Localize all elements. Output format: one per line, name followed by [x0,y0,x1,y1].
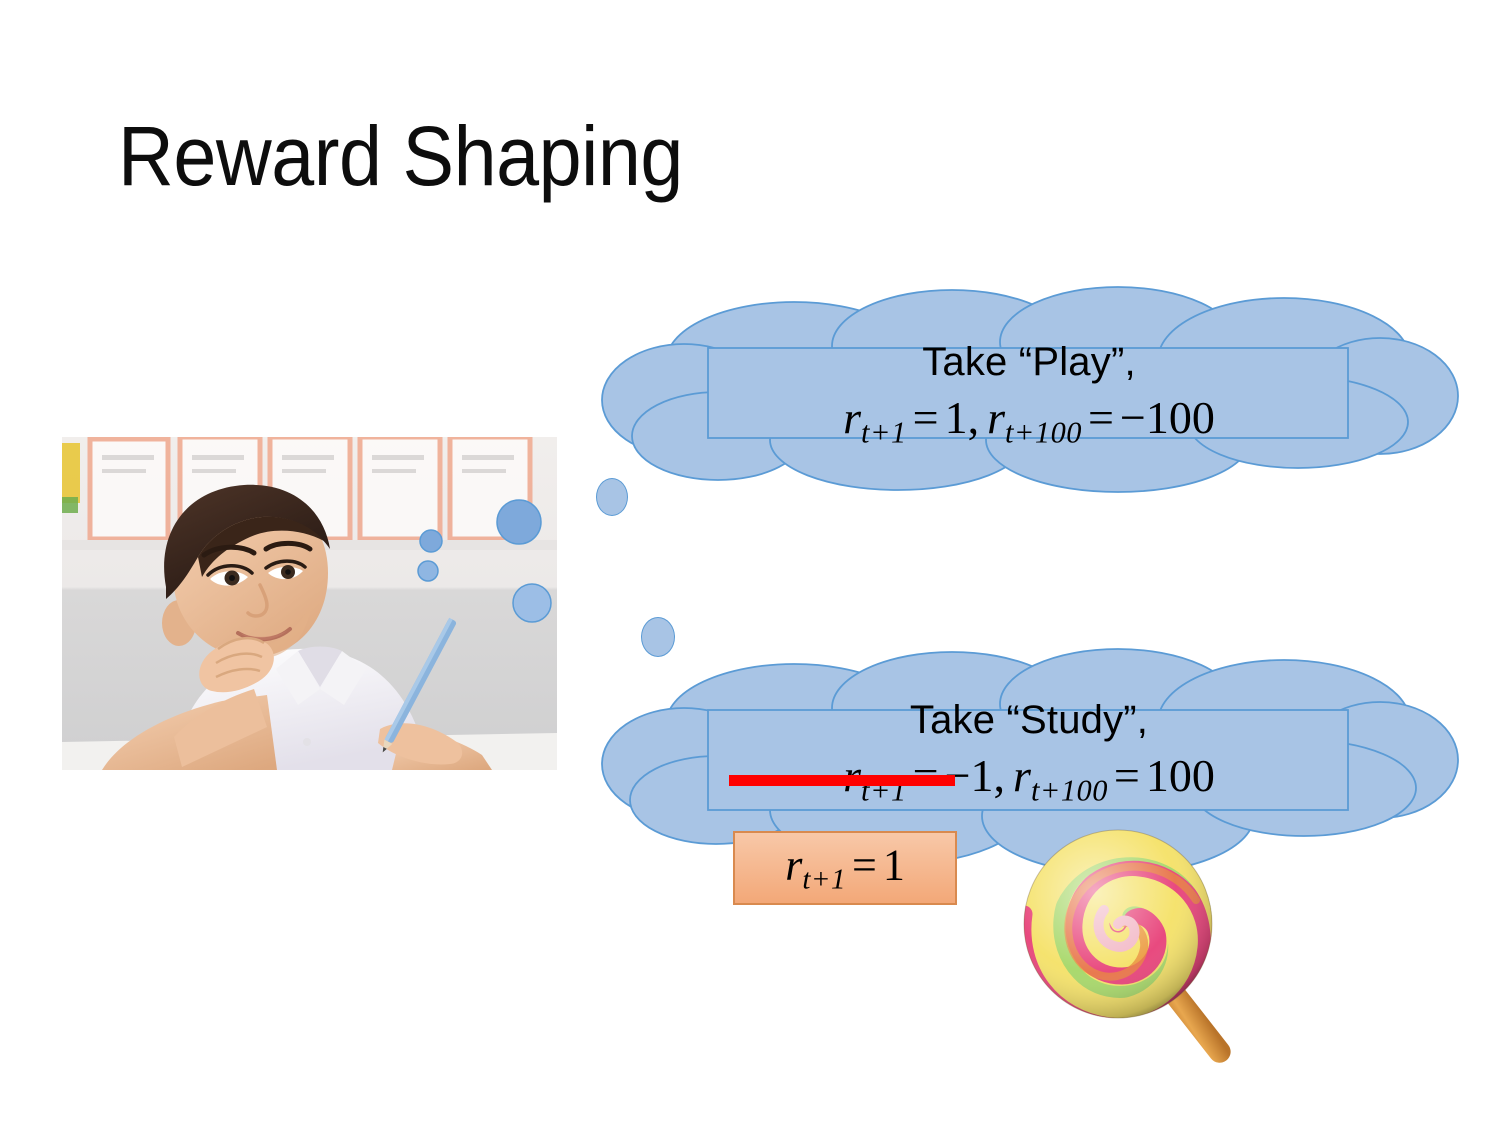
lollipop-image [1022,826,1290,1074]
strikethrough-bar [729,775,955,786]
slide-canvas: Reward Shaping [0,0,1500,1125]
highlight-box-math: rt+1=1 [735,839,955,896]
hl-math-sub: t+1 [802,864,846,896]
boy-thinking-photo [62,437,557,770]
hl-math-var: r [785,840,802,889]
hl-math-val: 1 [883,840,905,889]
cloud-shape-1 [598,288,1460,503]
photo-illustration [62,437,557,770]
page-title: Reward Shaping [118,112,683,200]
hl-math-op: = [846,840,883,889]
highlight-box-reward: rt+1=1 [733,831,957,905]
thought-cloud-play [598,288,1460,503]
lollipop-illustration [1022,826,1290,1074]
